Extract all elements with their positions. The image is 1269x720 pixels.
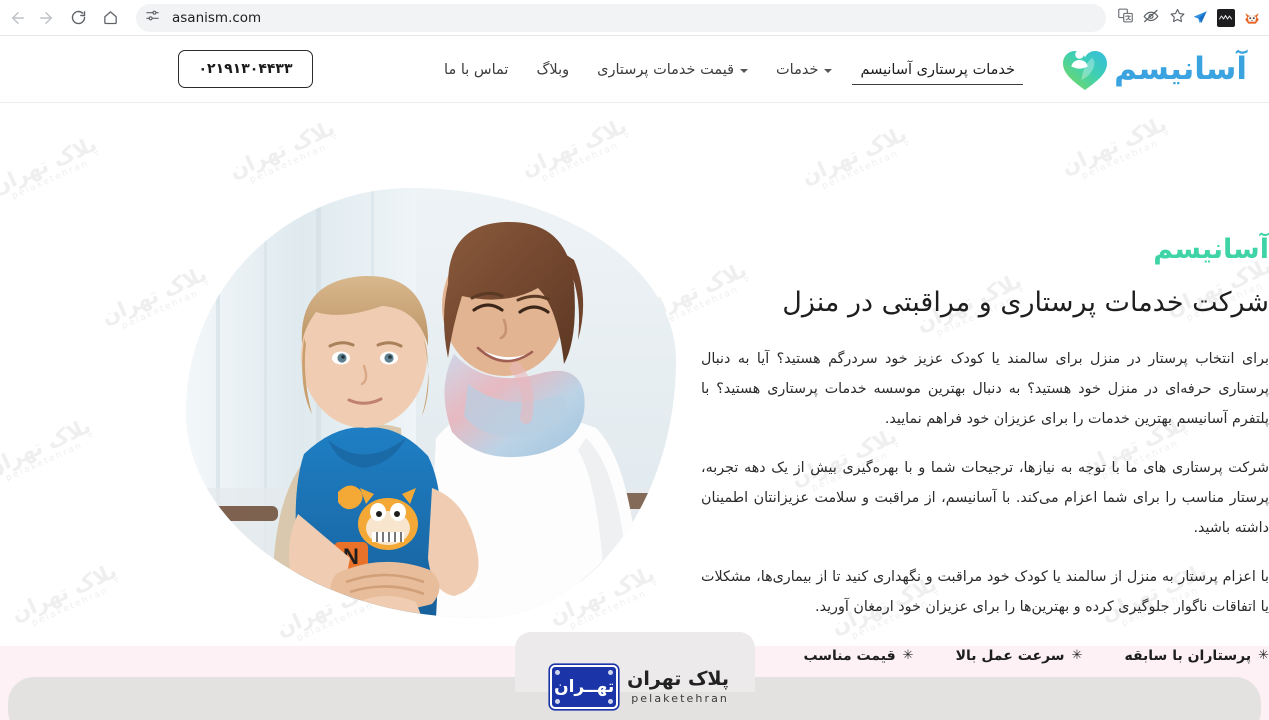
nav-label: خدمات پرستاری آسانیسم — [860, 62, 1015, 78]
nav-item-blog[interactable]: وبلاگ — [522, 36, 583, 103]
fox-extension-icon[interactable] — [1242, 8, 1261, 27]
page-title: شرکت خدمات پرستاری و مراقبتی در منزل — [701, 283, 1269, 322]
nav-label: تماس با ما — [444, 62, 508, 78]
badge-title-fa: پلاک تهران — [627, 669, 729, 690]
tehran-street-sign-icon: تهــران — [550, 665, 618, 709]
url-text[interactable]: asanism.com — [172, 10, 1098, 26]
browser-toolbar: asanism.com — [0, 0, 1269, 36]
feature-item-fast-response: ✳ سرعت عمل بالا — [956, 648, 1083, 664]
translate-button[interactable] — [1112, 5, 1138, 31]
hero-paragraph-3: با اعزام پرستار به منزل از سالمند یا کود… — [701, 562, 1269, 622]
sign-text: تهــران — [554, 677, 614, 697]
site-logo[interactable]: آسانیسم — [1059, 46, 1247, 92]
chevron-down-icon — [824, 69, 832, 73]
nav-item-services[interactable]: خدمات — [762, 36, 846, 103]
tune-settings-icon — [145, 8, 160, 27]
asterisk-icon: ✳ — [1258, 648, 1269, 663]
eye-off-icon — [1142, 7, 1160, 29]
leaf-heart-logo-icon — [1059, 46, 1111, 92]
address-bar[interactable]: asanism.com — [136, 4, 1106, 32]
hero-paragraph-1: برای انتخاب پرستار در منزل برای سالمند ی… — [701, 344, 1269, 434]
site-header: آسانیسم — [0, 36, 1269, 103]
blue-plane-icon[interactable] — [1190, 8, 1209, 27]
nav-item-asanism-nursing-services[interactable]: خدمات پرستاری آسانیسم — [846, 36, 1029, 103]
nurse-holding-child-photo: N — [186, 188, 676, 618]
nav-item-nursing-service-prices[interactable]: قیمت خدمات پرستاری — [583, 36, 762, 103]
feature-label: پرستاران با سابقه — [1124, 648, 1251, 664]
back-arrow-icon — [9, 9, 27, 27]
back-button[interactable] — [4, 4, 32, 32]
asterisk-icon: ✳ — [1072, 648, 1083, 663]
pelaketehran-badge: پلاک تهران pelaketehran تهــران — [543, 662, 729, 712]
hero-eyebrow: آسانیسم — [701, 235, 1269, 265]
extensions-area — [1190, 8, 1269, 27]
home-icon — [102, 9, 119, 26]
site-navigation: خدمات پرستاری آسانیسم خدمات قیمت خدمات پ… — [430, 36, 1029, 103]
chevron-down-icon — [740, 69, 748, 73]
phone-number-text: ۰۲۱۹۱۳۰۴۴۳۳ — [199, 61, 293, 77]
hero-paragraph-2: شرکت پرستاری های ما با توجه به نیازها، ت… — [701, 453, 1269, 543]
translate-icon — [1117, 7, 1134, 28]
logo-text: آسانیسم — [1114, 54, 1247, 85]
nav-item-contact-us[interactable]: تماس با ما — [430, 36, 522, 103]
incognito-indicator[interactable] — [1138, 5, 1164, 31]
page-viewport: پلاک تهرانpelaketehran پلاک تهرانpelaket… — [0, 36, 1269, 720]
hero-image: N — [186, 188, 676, 618]
site-info-button[interactable] — [140, 6, 164, 30]
bookmark-button[interactable] — [1164, 5, 1190, 31]
nav-label: قیمت خدمات پرستاری — [597, 62, 734, 78]
badge-title-en: pelaketehran — [627, 693, 729, 705]
nav-label: وبلاگ — [536, 62, 569, 78]
hero-section: N آسانیسم شرکت خدمات پرستاری و مراقبتی د… — [0, 103, 1269, 663]
nav-label: خدمات — [776, 62, 818, 78]
phone-number-button[interactable]: ۰۲۱۹۱۳۰۴۴۳۳ — [178, 50, 313, 88]
asterisk-icon: ✳ — [903, 648, 914, 663]
forward-button[interactable] — [32, 4, 60, 32]
badge-text-block: پلاک تهران pelaketehran — [627, 669, 729, 705]
reload-icon — [70, 9, 87, 26]
reload-button[interactable] — [64, 4, 92, 32]
feature-item-fair-price: ✳ قیمت مناسب — [803, 648, 913, 664]
home-button[interactable] — [96, 4, 124, 32]
hero-feature-list: ✳ پرستاران با سابقه ✳ سرعت عمل بالا ✳ قی… — [701, 648, 1269, 664]
hero-copy: آسانیسم شرکت خدمات پرستاری و مراقبتی در … — [701, 235, 1269, 664]
feature-label: سرعت عمل بالا — [956, 648, 1065, 664]
feature-item-experienced-nurses: ✳ پرستاران با سابقه — [1124, 648, 1269, 664]
dark-square-extension-icon[interactable] — [1216, 8, 1235, 27]
star-icon — [1169, 7, 1186, 28]
feature-label: قیمت مناسب — [803, 648, 895, 664]
forward-arrow-icon — [37, 9, 55, 27]
